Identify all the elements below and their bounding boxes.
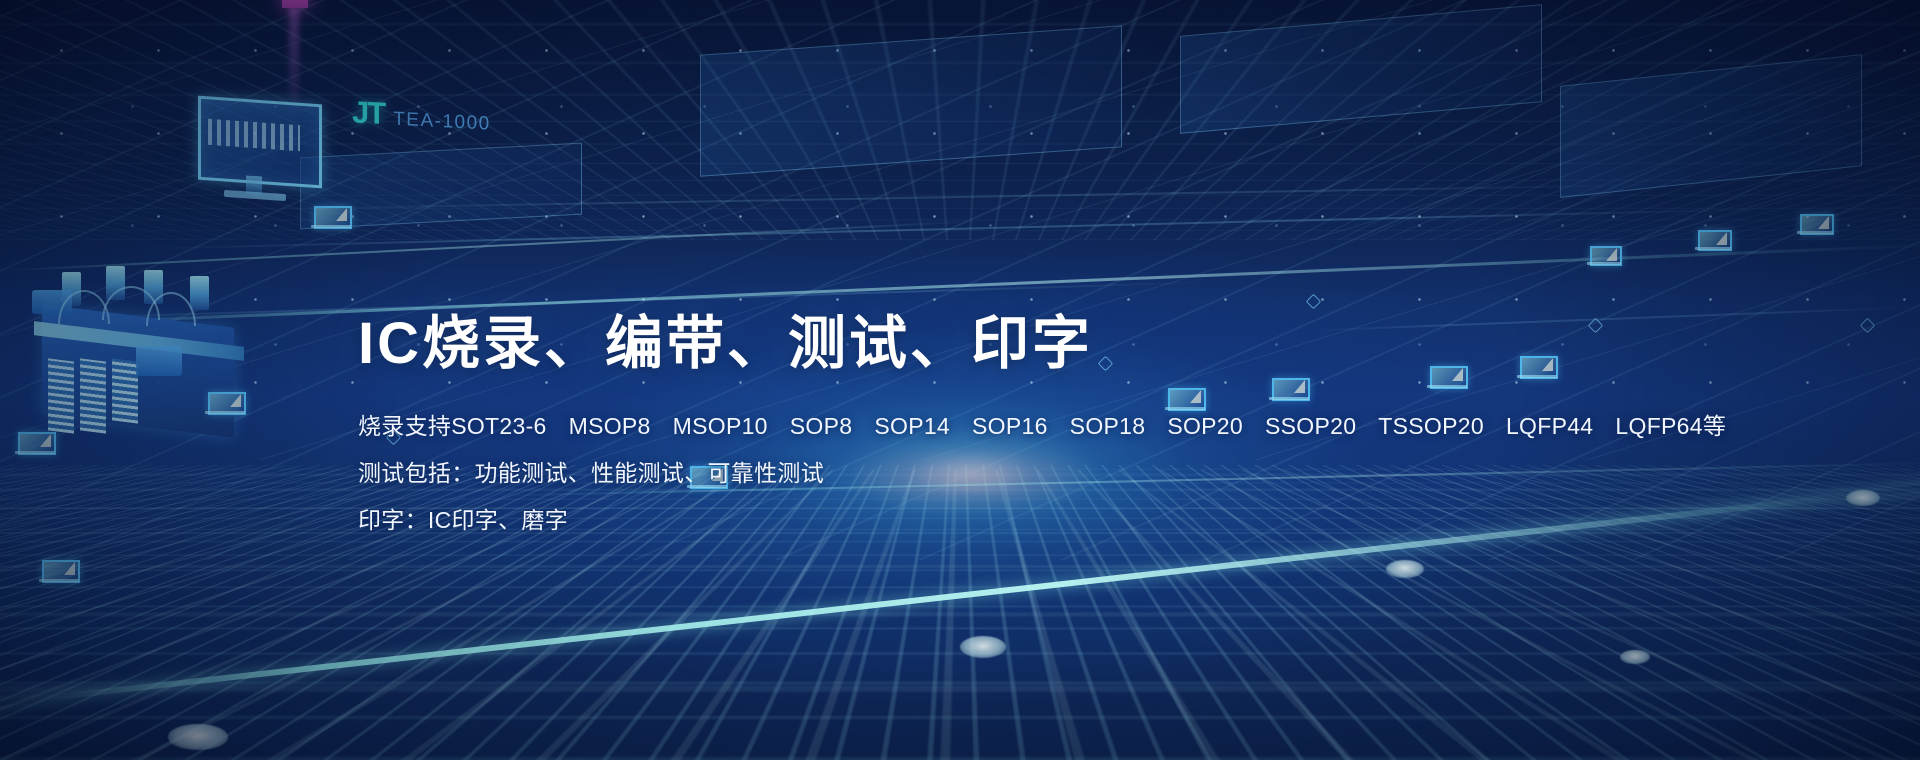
package-msop10: MSOP10 [673, 415, 768, 438]
package-sop8: SOP8 [790, 415, 853, 438]
laptop-icon [18, 432, 52, 454]
equipment-brand-mark: JT [352, 94, 384, 132]
banner-content: IC烧录、编带、测试、印字 烧录支持SOT23-6 MSOP8 MSOP10 S… [358, 312, 1658, 556]
laptop-icon [208, 392, 242, 414]
package-sop16: SOP16 [972, 415, 1048, 438]
machine-fin-3 [112, 358, 138, 423]
floor-pad [960, 636, 1006, 658]
laptop-highlight [64, 562, 75, 575]
marking-scope-line: 印字：IC印字、磨字 [358, 509, 1658, 532]
package-ssop20: SSOP20 [1265, 415, 1356, 438]
ic-service-banner: JT TEA-1000 [0, 0, 1920, 760]
laptop-base [1587, 262, 1621, 265]
laptop-base [1695, 247, 1731, 250]
machine-cap-center [136, 346, 182, 376]
package-lqfp64: LQFP64等 [1615, 415, 1726, 438]
service-description-list: 烧录支持SOT23-6 MSOP8 MSOP10 SOP8 SOP14 SOP1… [358, 415, 1658, 532]
laptop-highlight [1716, 232, 1727, 245]
laptop-icon [1800, 214, 1830, 234]
laptop-base [205, 411, 245, 414]
laptop-base [15, 451, 55, 454]
equipment-model-label: TEA-1000 [393, 109, 491, 136]
floor-pad [168, 724, 228, 750]
machine-fin-1 [48, 358, 74, 433]
laptop-icon [314, 206, 348, 228]
package-lqfp44: LQFP44 [1506, 415, 1593, 438]
test-scope-line: 测试包括：功能测试、性能测试、可靠性测试 [358, 462, 1658, 485]
control-monitor [198, 100, 316, 196]
laptop-highlight [230, 394, 241, 407]
burn-support-line: 烧录支持SOT23-6 MSOP8 MSOP10 SOP8 SOP14 SOP1… [358, 415, 1658, 438]
laptop-icon [42, 560, 76, 582]
laptop-highlight [1606, 248, 1617, 261]
floor-pad [1620, 650, 1650, 664]
floor-pad [1846, 490, 1880, 506]
package-tssop20: TSSOP20 [1378, 415, 1484, 438]
package-msop8: MSOP8 [569, 415, 651, 438]
pink-ceiling-light [282, 0, 308, 8]
laptop-highlight [336, 208, 347, 221]
laptop-icon [1698, 230, 1728, 250]
package-sop20: SOP20 [1167, 415, 1243, 438]
laptop-base [311, 225, 351, 228]
page-title: IC烧录、编带、测试、印字 [358, 312, 1658, 377]
laptop-highlight [40, 434, 51, 447]
floor-pad [1386, 560, 1424, 578]
laptop-base [39, 579, 79, 582]
package-sop14: SOP14 [874, 415, 950, 438]
package-sop18: SOP18 [1070, 415, 1146, 438]
machine-head-4 [190, 276, 209, 310]
laptop-base [1797, 231, 1833, 234]
laptop-icon [1590, 246, 1618, 265]
burn-support-label: 烧录支持SOT23-6 [358, 415, 547, 438]
laptop-highlight [1818, 216, 1829, 229]
equipment-logo: JT TEA-1000 [352, 94, 491, 137]
machine-fin-2 [80, 358, 106, 433]
